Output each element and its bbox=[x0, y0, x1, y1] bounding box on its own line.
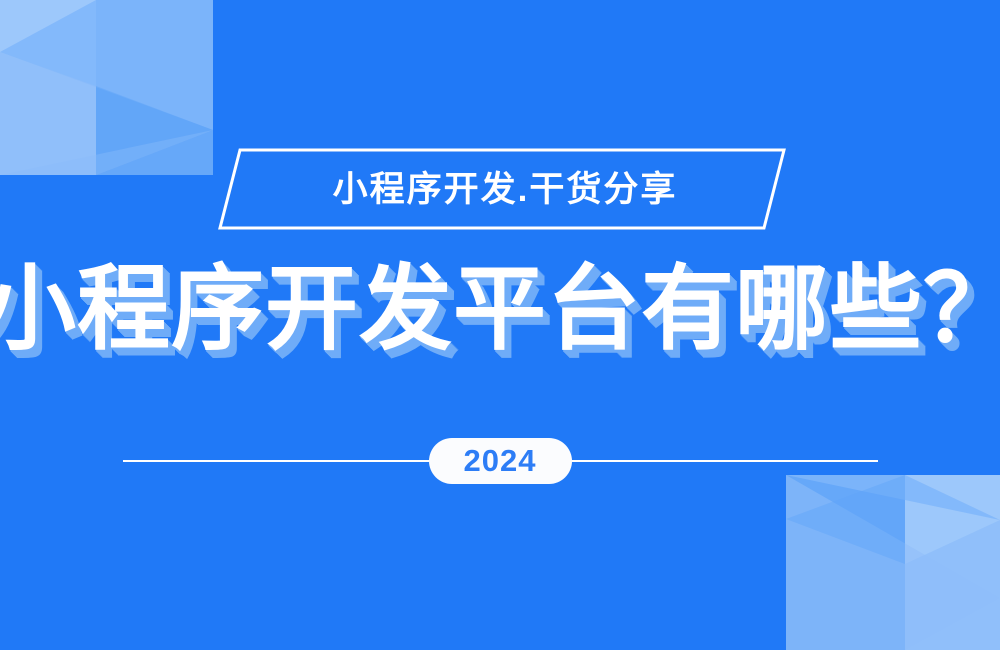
page-title-text: 小程序开发平台有哪些？ bbox=[0, 263, 1000, 356]
poster-canvas: 小程序开发.干货分享 小程序开发平台有哪些？ 2024 bbox=[0, 0, 1000, 650]
year-badge: 2024 bbox=[429, 438, 572, 484]
year-rule-right bbox=[568, 460, 878, 462]
year-rule-left bbox=[123, 460, 433, 462]
year-row: 2024 bbox=[0, 438, 1000, 484]
subtitle-text: 小程序开发.干货分享 bbox=[218, 148, 786, 230]
page-title: 小程序开发平台有哪些？ bbox=[0, 253, 1000, 365]
subtitle-banner: 小程序开发.干货分享 bbox=[218, 148, 786, 230]
